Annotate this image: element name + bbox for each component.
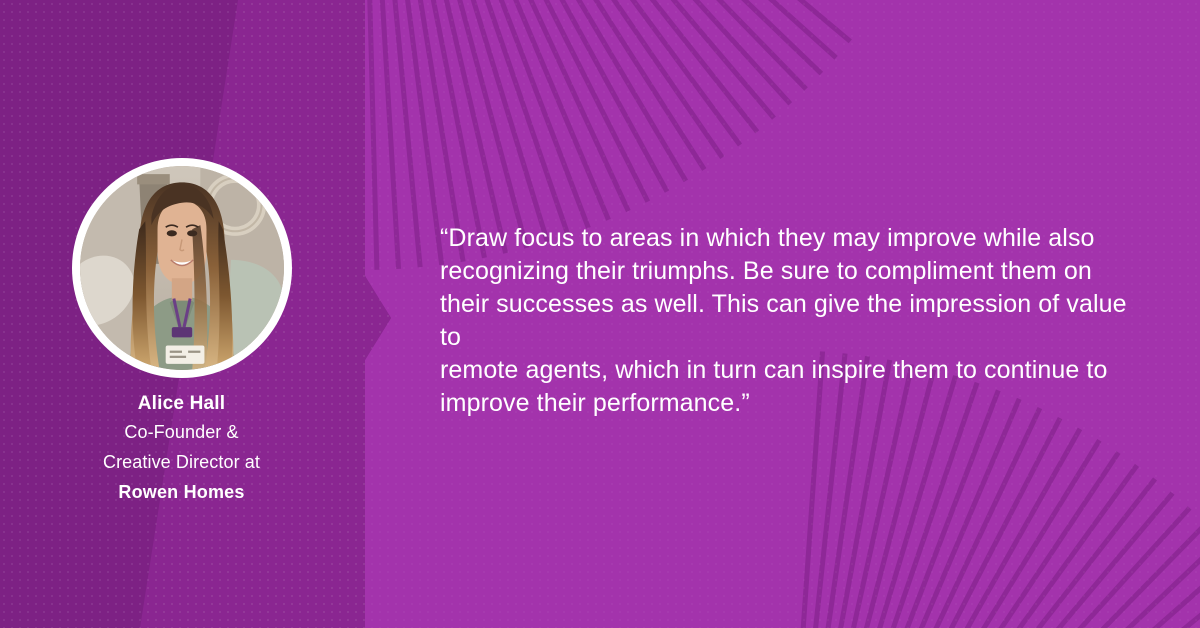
author-role-line-2: Creative Director at — [0, 447, 363, 477]
quote-line: “Draw focus to areas in which they may i… — [440, 222, 1150, 255]
avatar — [72, 158, 292, 378]
author-name: Alice Hall — [0, 391, 363, 417]
quote-line: recognizing their triumphs. Be sure to c… — [440, 255, 1150, 288]
avatar-photo — [80, 166, 284, 370]
testimonial-card: Alice Hall Co-Founder & Creative Directo… — [0, 0, 1200, 628]
quote-line: improve their performance.” — [440, 387, 1150, 420]
author-company: Rowen Homes — [0, 477, 363, 507]
quote-line: remote agents, which in turn can inspire… — [440, 354, 1150, 387]
quote-text: “Draw focus to areas in which they may i… — [440, 222, 1150, 420]
quote-line: their successes as well. This can give t… — [440, 288, 1150, 354]
attribution: Alice Hall Co-Founder & Creative Directo… — [0, 391, 363, 507]
author-role-line-1: Co-Founder & — [0, 417, 363, 447]
